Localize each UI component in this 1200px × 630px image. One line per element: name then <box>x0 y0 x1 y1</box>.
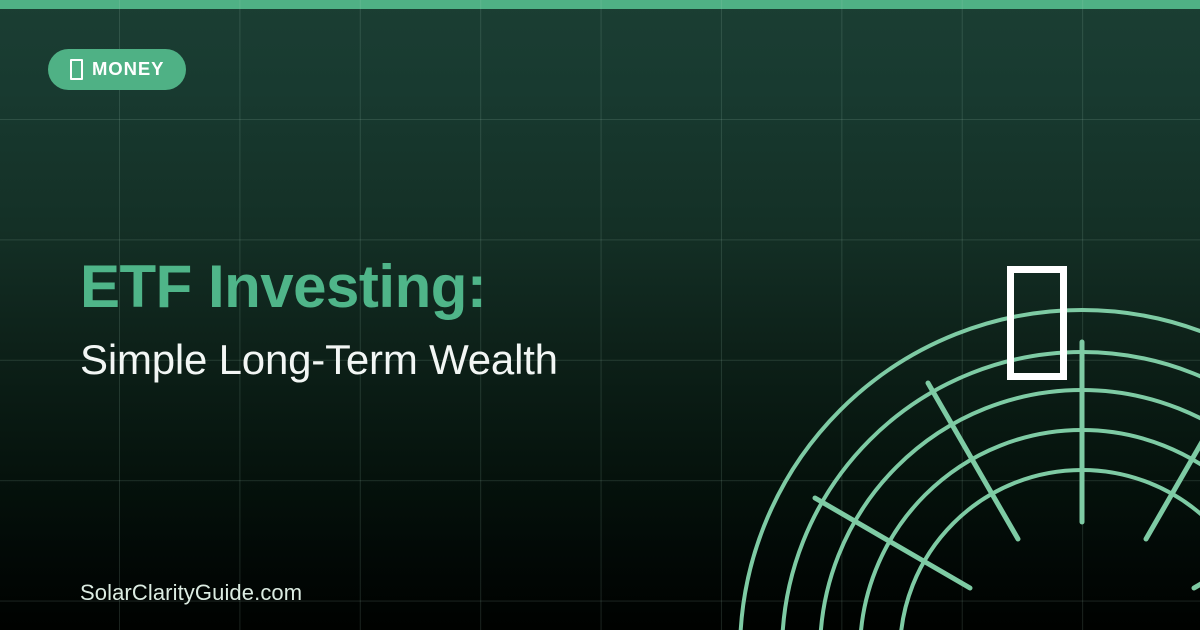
category-badge[interactable]: MONEY <box>48 49 186 90</box>
page-title: ETF Investing: <box>80 255 840 320</box>
radar-spokes <box>772 342 1200 630</box>
radar-arc-4 <box>860 430 1200 630</box>
headline-block: ETF Investing: Simple Long-Term Wealth <box>80 255 840 383</box>
category-badge-label: MONEY <box>92 60 164 79</box>
site-url: SolarClarityGuide.com <box>80 580 302 606</box>
top-accent-bar <box>0 0 1200 9</box>
radar-arc-5 <box>900 470 1200 630</box>
radar-spoke-60 <box>1146 383 1200 539</box>
radar-spoke-30 <box>1194 498 1200 588</box>
radar-spoke-150 <box>815 498 970 588</box>
radar-arc-3 <box>820 390 1200 630</box>
hero-missing-glyph-box-icon <box>1007 266 1067 380</box>
page-subtitle: Simple Long-Term Wealth <box>80 336 840 383</box>
missing-glyph-box-icon <box>70 59 83 80</box>
social-card: MONEY ETF Investing: Simple Long-Term We… <box>0 0 1200 630</box>
radar-arc-2 <box>782 352 1200 630</box>
radar-spoke-120 <box>928 383 1018 539</box>
